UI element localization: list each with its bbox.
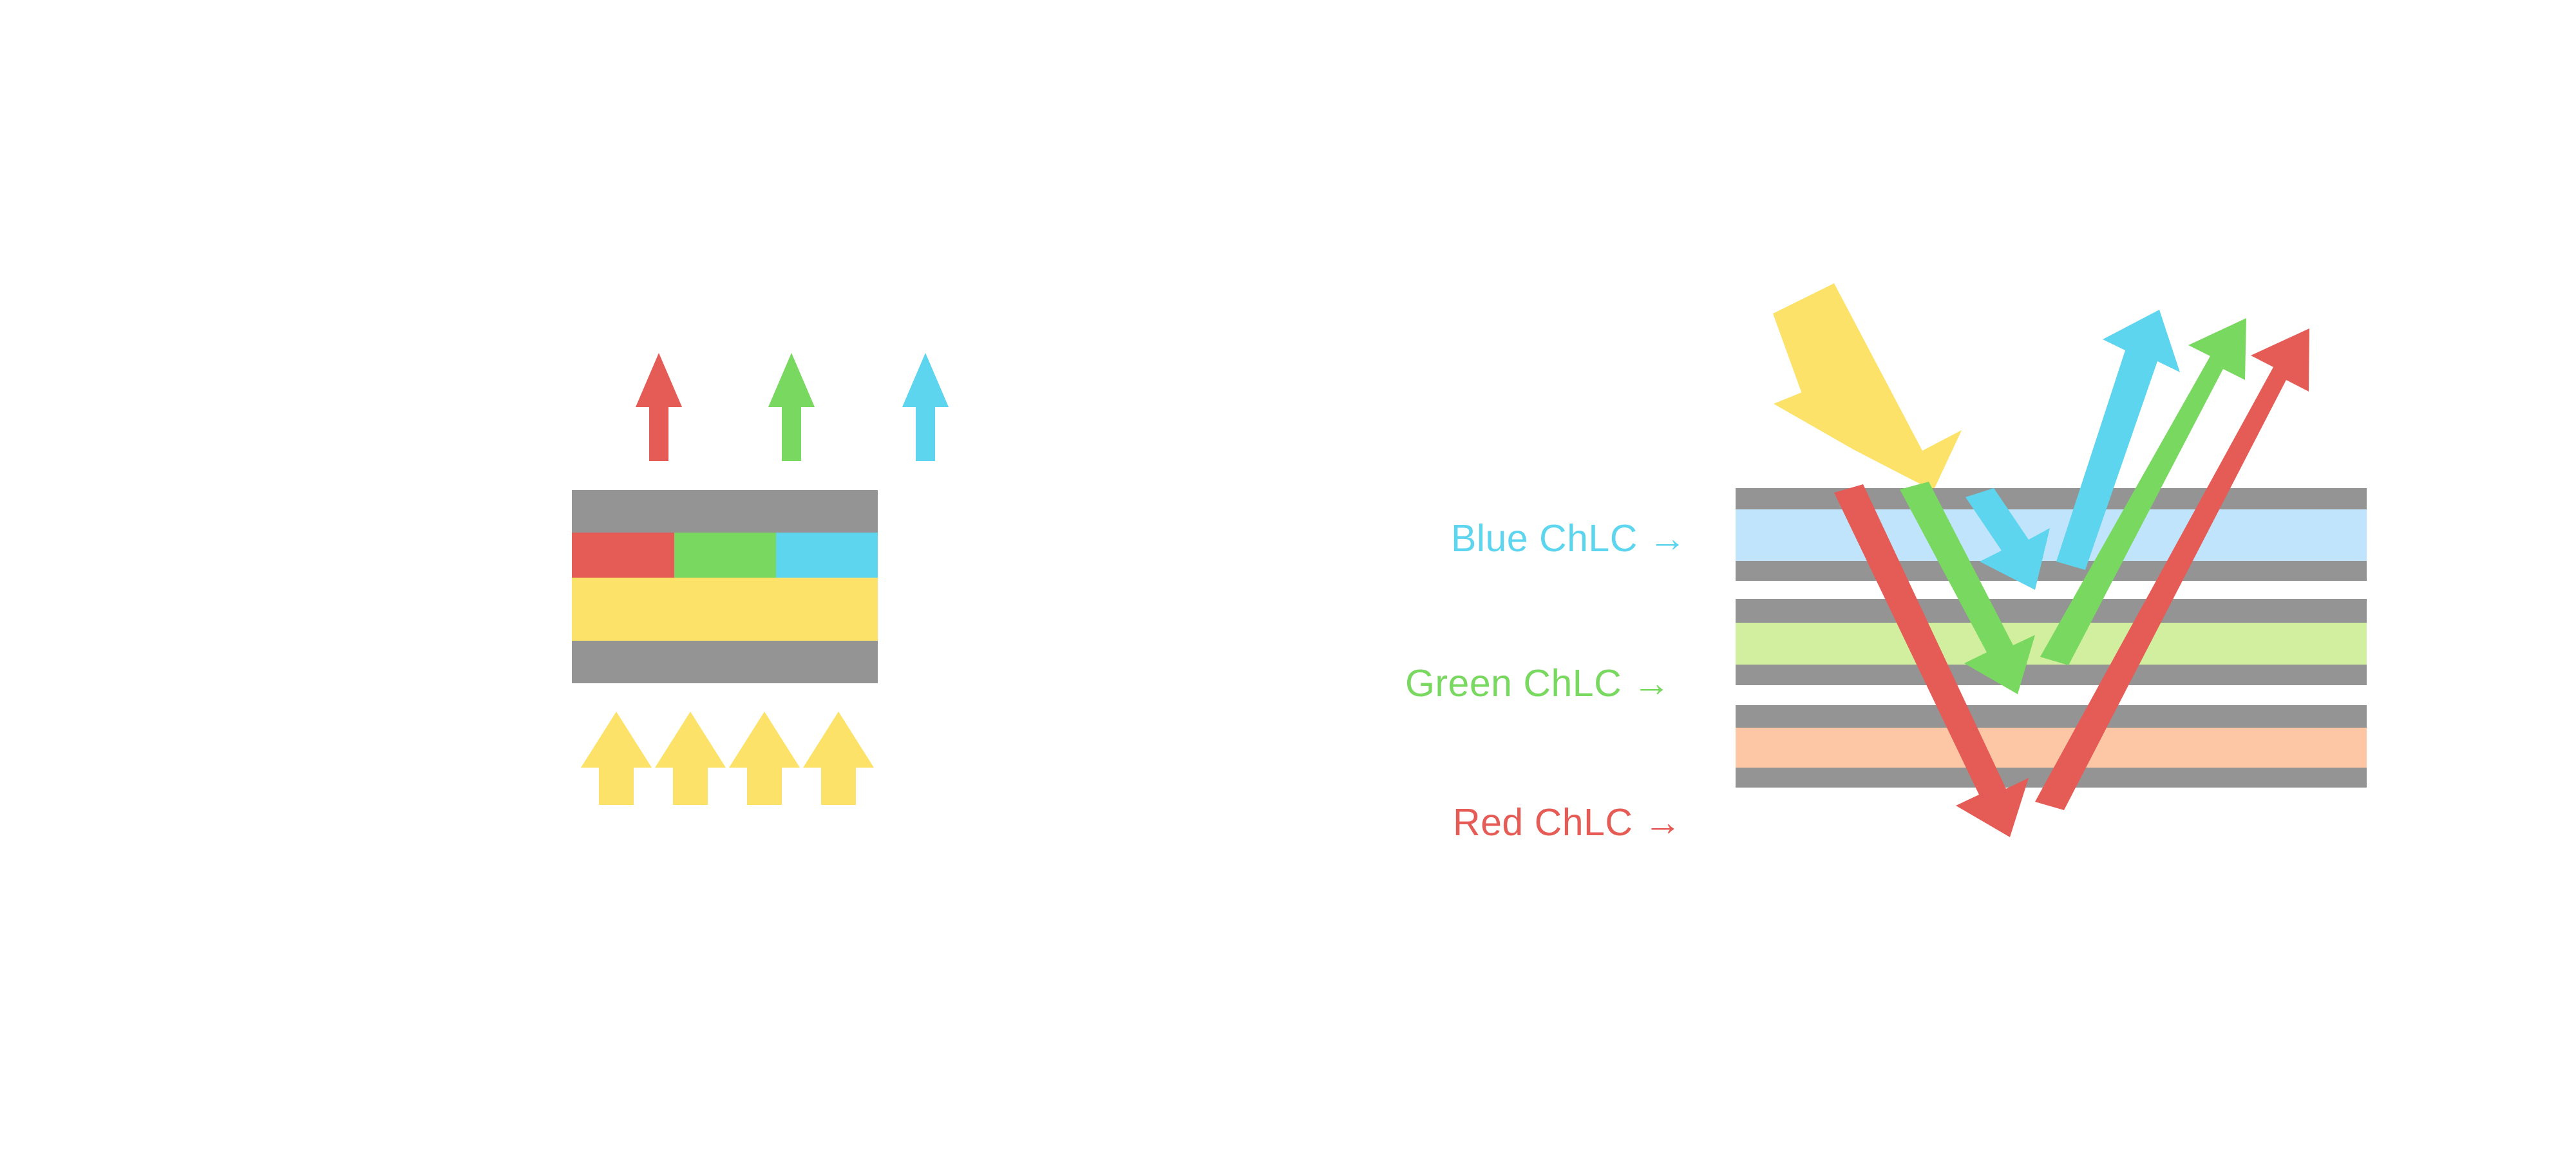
label-red-chlc-text: Red ChLC — [1453, 801, 1633, 844]
label-green-chlc-text: Green ChLC — [1405, 662, 1622, 705]
ambient-light-ray — [1773, 283, 1962, 491]
red-cell-top-electrode — [1736, 705, 2367, 728]
diagram-canvas: Blue ChLC → Green ChLC → Red ChLC → — [0, 0, 2576, 1154]
green-cell-top-electrode — [1736, 599, 2367, 623]
label-red-chlc: Red ChLC → — [1453, 800, 1682, 844]
gap-blue-green — [1736, 581, 2367, 599]
label-green-chlc: Green ChLC → — [1405, 661, 1671, 705]
red-chlc-cell — [1736, 728, 2367, 768]
blue-cell-bottom-electrode — [1736, 561, 2367, 581]
gap-green-red — [1736, 685, 2367, 705]
green-cell-bottom-electrode — [1736, 665, 2367, 685]
blue-cell-top-electrode — [1736, 488, 2367, 509]
blue-chlc-cell — [1736, 509, 2367, 561]
label-blue-chlc-text: Blue ChLC — [1451, 517, 1638, 560]
label-green-chlc-arrow-icon: → — [1633, 662, 1671, 705]
label-red-chlc-arrow-icon: → — [1643, 801, 1682, 844]
right-panel-graphics — [0, 0, 2576, 1154]
label-blue-chlc: Blue ChLC → — [1451, 516, 1687, 560]
label-blue-chlc-arrow-icon: → — [1649, 517, 1687, 560]
